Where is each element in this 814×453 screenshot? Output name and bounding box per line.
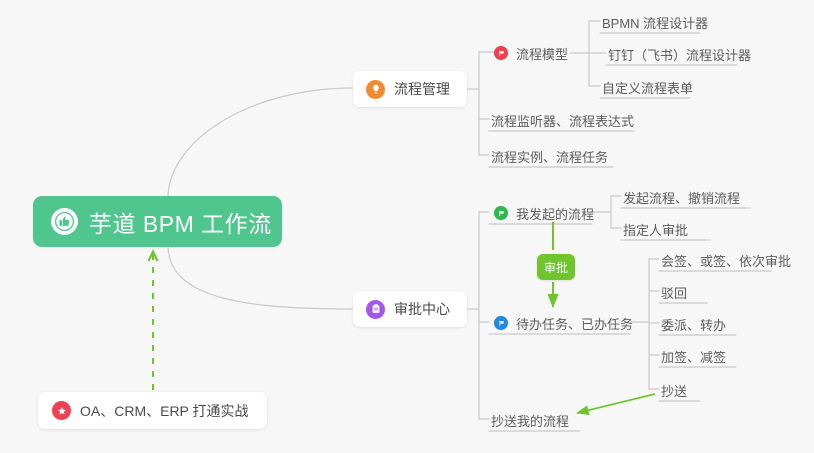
node-label-reject: 驳回 (661, 283, 687, 302)
node-delegate-transfer[interactable]: 委派、转办 (661, 314, 726, 334)
flag-blue-icon (494, 316, 508, 330)
cc-flow-arrow (577, 394, 655, 413)
callout-node-integration[interactable]: OA、CRM、ERP 打通实战 (38, 392, 267, 429)
root-node[interactable]: 芋道 BPM 工作流 (33, 196, 282, 247)
node-add-remove-sign[interactable]: 加签、减签 (661, 346, 726, 366)
node-label-todo-done-tasks: 待办任务、已办任务 (516, 314, 633, 333)
approval-flow-label[interactable]: 审批 (537, 254, 575, 280)
node-dingtalk-designer[interactable]: 钉钉（飞书）流程设计器 (608, 44, 751, 64)
root-label: 芋道 BPM 工作流 (89, 205, 272, 239)
node-cc-to-me-process[interactable]: 抄送我的流程 (491, 410, 569, 430)
branch-label-approval-center: 审批中心 (394, 299, 450, 319)
node-label-cc-to-me-process: 抄送我的流程 (491, 411, 569, 430)
node-label-delegate-transfer: 委派、转办 (661, 315, 726, 334)
node-label-countersign: 会签、或签、依次审批 (661, 251, 791, 270)
node-todo-done-tasks[interactable]: 待办任务、已办任务 (494, 313, 633, 333)
flag-green-icon (494, 206, 508, 220)
node-label-dingtalk-designer: 钉钉（飞书）流程设计器 (608, 45, 751, 64)
lightbulb-icon (366, 80, 385, 99)
node-countersign[interactable]: 会签、或签、依次审批 (661, 250, 791, 270)
branch-label-process-management: 流程管理 (394, 79, 450, 99)
node-assignee-approval[interactable]: 指定人审批 (623, 219, 688, 239)
node-bpmn-designer[interactable]: BPMN 流程设计器 (602, 12, 708, 32)
node-process-model[interactable]: 流程模型 (494, 43, 568, 63)
node-process-listener[interactable]: 流程监听器、流程表达式 (491, 110, 634, 130)
thumbs-up-icon (51, 208, 78, 235)
star-icon (52, 401, 71, 420)
node-start-cancel-process[interactable]: 发起流程、撤销流程 (623, 187, 740, 207)
callout-label-integration: OA、CRM、ERP 打通实战 (80, 401, 249, 421)
approval-flow-label-text: 审批 (544, 259, 568, 276)
mindmap-canvas: 芋道 BPM 工作流 流程管理 审批中心 (0, 0, 814, 453)
node-custom-form[interactable]: 自定义流程表单 (602, 77, 693, 97)
node-label-my-started-process: 我发起的流程 (516, 204, 594, 223)
node-label-custom-form: 自定义流程表单 (602, 78, 693, 97)
node-reject[interactable]: 驳回 (661, 282, 687, 302)
node-label-cc: 抄送 (661, 381, 687, 400)
node-label-assignee-approval: 指定人审批 (623, 220, 688, 239)
node-my-started-process[interactable]: 我发起的流程 (494, 203, 594, 223)
node-label-process-instance: 流程实例、流程任务 (491, 147, 608, 166)
node-label-process-model: 流程模型 (516, 44, 568, 63)
flag-red-icon (494, 46, 508, 60)
clipboard-icon (366, 300, 385, 319)
branch-node-process-management[interactable]: 流程管理 (353, 71, 467, 107)
node-label-process-listener: 流程监听器、流程表达式 (491, 111, 634, 130)
branch-node-approval-center[interactable]: 审批中心 (353, 291, 467, 327)
node-label-add-remove-sign: 加签、减签 (661, 347, 726, 366)
node-label-bpmn-designer: BPMN 流程设计器 (602, 13, 708, 32)
node-label-start-cancel-process: 发起流程、撤销流程 (623, 188, 740, 207)
node-cc[interactable]: 抄送 (661, 380, 687, 400)
node-process-instance[interactable]: 流程实例、流程任务 (491, 146, 608, 166)
